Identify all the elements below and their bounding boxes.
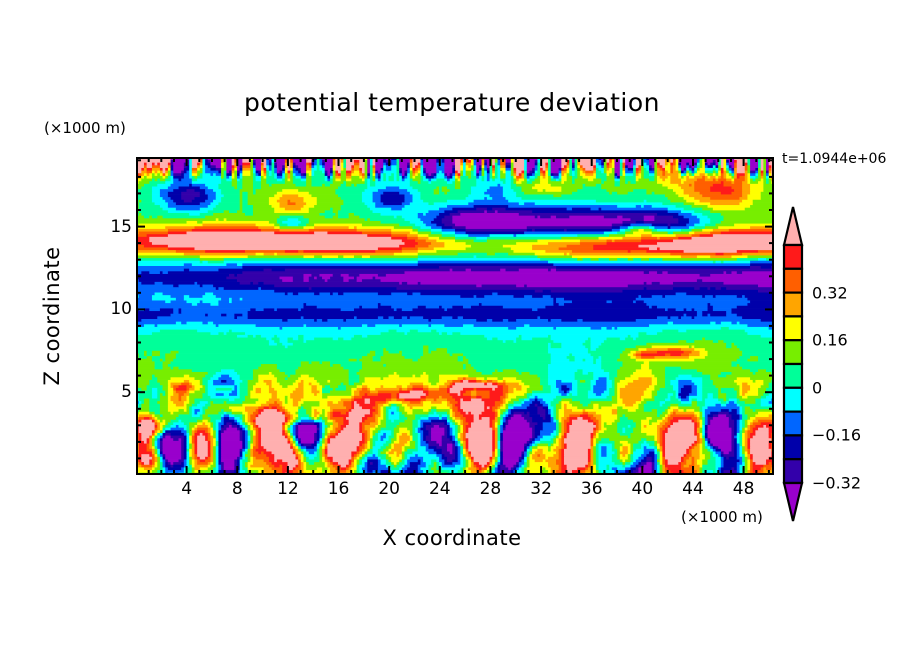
y-axis-title: Z coordinate (40, 246, 64, 385)
x-tick-label: 36 (581, 479, 603, 499)
x-tick-label: 24 (429, 479, 451, 499)
time-annotation: t=1.0944e+06 (782, 151, 886, 167)
x-axis-tick-labels: 4812162024283236404448 (136, 479, 774, 501)
x-tick-label: 32 (530, 479, 552, 499)
page-title: potential temperature deviation (0, 88, 904, 117)
colorbar-band (784, 412, 802, 436)
colorbar-tick-label: 0.32 (812, 283, 848, 302)
y-axis-tick-labels: 51015 (96, 157, 132, 475)
colorbar-tick-label: 0.16 (812, 331, 848, 350)
x-tick-label: 12 (277, 479, 299, 499)
x-axis-title: X coordinate (0, 526, 904, 550)
colorbar-tick-labels: 0.320.160−0.16−0.32 (812, 205, 882, 523)
colorbar-band (784, 293, 802, 317)
colorbar-cap-min (784, 483, 802, 521)
x-tick-label: 8 (232, 479, 243, 499)
y-tick-label: 15 (110, 217, 132, 237)
x-tick-label: 44 (682, 479, 704, 499)
y-tick-label: 5 (121, 382, 132, 402)
x-tick-label: 16 (328, 479, 350, 499)
colorbar-band (784, 245, 802, 269)
colorbar-band (784, 269, 802, 293)
x-tick-label: 4 (181, 479, 192, 499)
colorbar (778, 205, 808, 523)
x-axis-unit-label: (×1000 m) (681, 508, 763, 526)
colorbar-band (784, 435, 802, 459)
y-axis-unit-label: (×1000 m) (44, 119, 126, 137)
colorbar-svg (778, 205, 808, 523)
figure-canvas: potential temperature deviation (×1000 m… (0, 0, 904, 654)
x-tick-label: 20 (378, 479, 400, 499)
colorbar-band (784, 340, 802, 364)
colorbar-tick-label: 0 (812, 378, 822, 397)
x-tick-label: 28 (480, 479, 502, 499)
colorbar-band (784, 364, 802, 388)
colorbar-tick-label: −0.32 (812, 474, 861, 493)
x-tick-label: 40 (632, 479, 654, 499)
plot-area (136, 157, 774, 475)
colorbar-tick-label: −0.16 (812, 426, 861, 445)
plot-frame (136, 157, 774, 475)
colorbar-band (784, 459, 802, 483)
colorbar-band (784, 388, 802, 412)
colorbar-cap-max (784, 207, 802, 245)
y-tick-label: 10 (110, 299, 132, 319)
colorbar-band (784, 316, 802, 340)
x-tick-label: 48 (733, 479, 755, 499)
